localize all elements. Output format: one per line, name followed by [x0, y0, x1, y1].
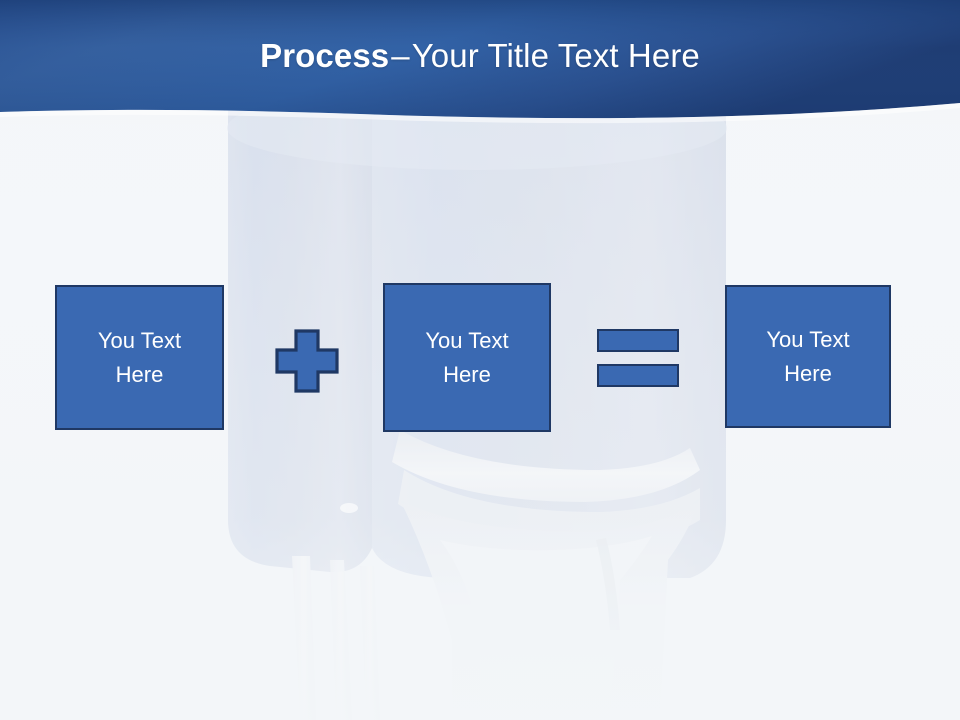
page-title-bold: Process: [260, 37, 389, 75]
slide: Process – Your Title Text Here You Text …: [0, 0, 960, 720]
equals-icon: [597, 329, 679, 387]
process-diagram: You Text Here You Text Here You Text Her…: [0, 283, 960, 433]
equals-bar-bottom: [597, 364, 679, 387]
process-box-1-line2: Here: [116, 358, 164, 392]
page-title: Process – Your Title Text Here: [0, 0, 960, 112]
page-title-rest: Your Title Text Here: [412, 37, 700, 75]
process-box-3-line2: Here: [784, 357, 832, 391]
process-box-2[interactable]: You Text Here: [383, 283, 551, 432]
process-box-3[interactable]: You Text Here: [725, 285, 891, 428]
process-box-1[interactable]: You Text Here: [55, 285, 224, 430]
equals-bar-top: [597, 329, 679, 352]
process-box-2-line2: Here: [443, 358, 491, 392]
process-box-2-line1: You Text: [425, 324, 508, 358]
process-box-1-line1: You Text: [98, 324, 181, 358]
page-title-dash: –: [389, 37, 411, 75]
plus-icon: [275, 329, 339, 393]
process-box-3-line1: You Text: [766, 323, 849, 357]
